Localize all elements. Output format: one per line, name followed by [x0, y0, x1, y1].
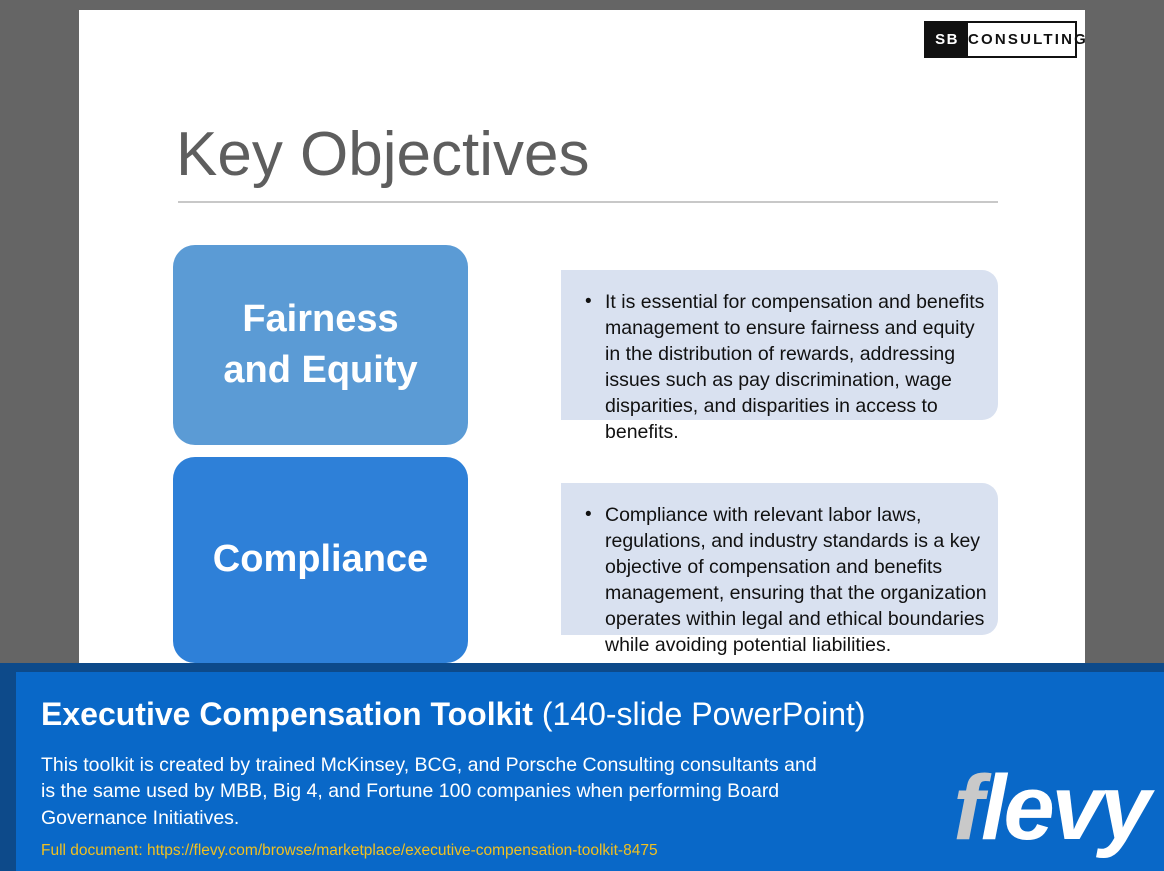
objective-tile-label: Compliance [213, 534, 428, 585]
sb-logo-wordmark: CONSULTING [968, 31, 1088, 48]
promo-title-light: (140-slide PowerPoint) [542, 696, 866, 732]
objective-row-fairness-and-equity: Fairness and Equity It is essential for … [173, 245, 998, 445]
objective-label-line-2: and Equity [223, 349, 417, 391]
objective-tile-label: Fairness and Equity [223, 294, 417, 397]
promo-url-link[interactable]: https://flevy.com/browse/marketplace/exe… [147, 842, 658, 859]
objective-bullet-list: It is essential for compensation and ben… [583, 290, 988, 446]
promo-banner-inner: Executive Compensation Toolkit (140-slid… [16, 672, 1164, 871]
page-title: Key Objectives [176, 122, 590, 187]
promo-title: Executive Compensation Toolkit (140-slid… [41, 696, 866, 733]
promo-url-label: Full document: [41, 842, 143, 859]
screenshot-root: SB CONSULTING Key Objectives Fairness an… [0, 0, 1164, 871]
promo-title-strong: Executive Compensation Toolkit [41, 696, 533, 732]
objective-bullet-list: Compliance with relevant labor laws, reg… [583, 503, 988, 659]
title-underline-rule [178, 201, 998, 203]
objective-row-compliance: Compliance Compliance with relevant labo… [173, 457, 998, 663]
promo-description: This toolkit is created by trained McKin… [41, 752, 831, 831]
presentation-slide: SB CONSULTING Key Objectives Fairness an… [79, 10, 1085, 663]
objective-tile-compliance[interactable]: Compliance [173, 457, 468, 663]
sb-logo-mark: SB [926, 23, 968, 56]
objective-tile-fairness-and-equity[interactable]: Fairness and Equity [173, 245, 468, 445]
promo-url-line: Full document: https://flevy.com/browse/… [41, 842, 658, 860]
flevy-logo: flevy [953, 762, 1148, 854]
objective-label-line-1: Fairness [242, 298, 398, 340]
list-item: It is essential for compensation and ben… [583, 290, 988, 446]
promo-banner: Executive Compensation Toolkit (140-slid… [0, 663, 1164, 871]
list-item: Compliance with relevant labor laws, reg… [583, 503, 988, 659]
flevy-logo-f: f [953, 757, 981, 859]
sb-consulting-logo: SB CONSULTING [924, 21, 1077, 58]
flevy-logo-rest: levy [981, 757, 1148, 859]
